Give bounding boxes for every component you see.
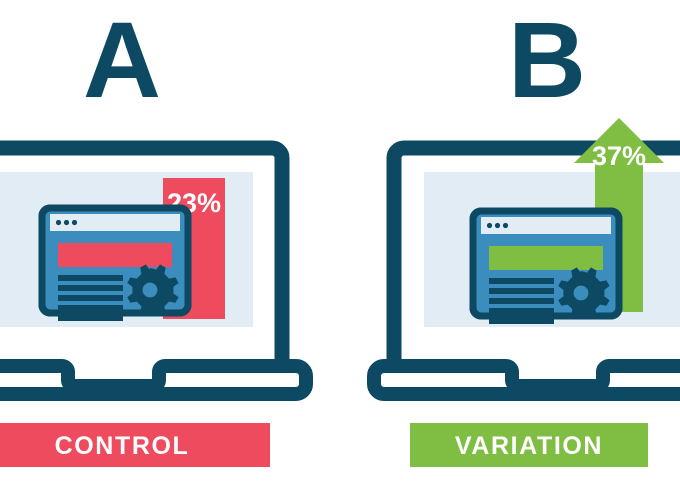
text-line <box>489 288 554 294</box>
window-dot-icon <box>56 220 61 225</box>
variant-letter-a: A <box>83 0 161 120</box>
window-dot-icon <box>503 223 508 228</box>
browser-titlebar-a <box>50 214 180 231</box>
text-line <box>489 298 554 304</box>
ab-test-illustration: A 23% <box>0 0 680 487</box>
window-dot-icon <box>495 223 500 228</box>
text-line <box>489 278 554 284</box>
window-dot-icon <box>72 220 77 225</box>
banner-variation-label: VARIATION <box>455 432 603 460</box>
text-line <box>58 275 123 281</box>
banner-control-label: CONTROL <box>55 432 190 460</box>
variant-panel-b: B 37% <box>374 0 680 467</box>
browser-hero-a <box>58 243 172 267</box>
variant-letter-b: B <box>508 0 586 120</box>
illustration-canvas: A 23% <box>0 0 680 487</box>
window-dot-icon <box>64 220 69 225</box>
browser-dots-a <box>56 220 77 225</box>
browser-titlebar-b <box>481 217 611 234</box>
browser-window-b <box>473 211 619 324</box>
text-line <box>58 285 123 291</box>
text-line <box>58 295 123 301</box>
browser-hero-b <box>489 246 603 270</box>
metric-value-b: 37% <box>592 141 646 171</box>
laptop-base-a <box>0 366 306 394</box>
browser-window-a <box>42 208 188 321</box>
browser-dots-b <box>487 223 508 228</box>
variant-panel-a: A 23% <box>0 0 306 467</box>
window-dot-icon <box>487 223 492 228</box>
laptop-base-b-top <box>384 366 680 386</box>
